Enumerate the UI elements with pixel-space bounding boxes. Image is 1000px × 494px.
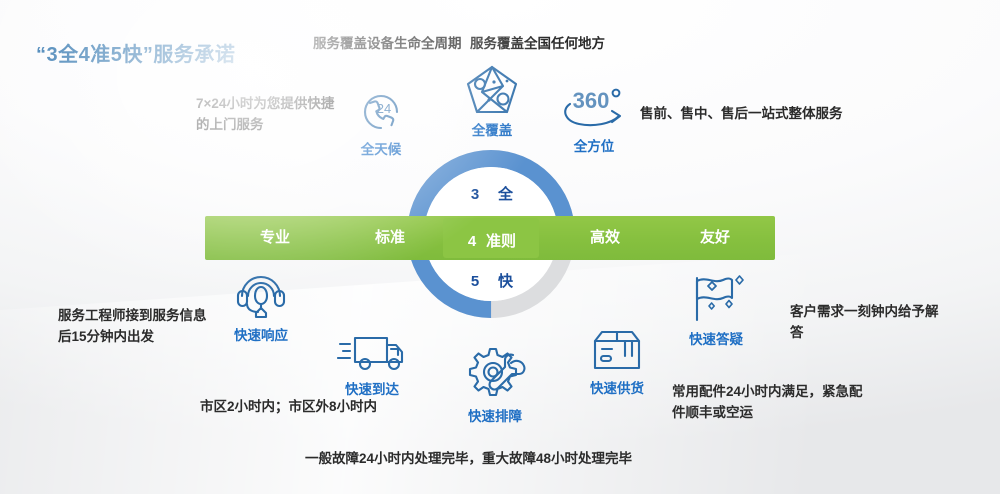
icon-label-fast-repair: 快速排障 <box>452 405 538 425</box>
caption-coverage-nationwide: 服务覆盖全国任何地方 <box>470 33 605 54</box>
caption-coverage-lifecycle: 服务覆盖设备生命全周期 <box>313 33 462 54</box>
icon-label-all-weather: 全天候 <box>337 138 425 158</box>
green-item-efficient[interactable]: 高效 <box>545 216 665 260</box>
caption-arrival: 市区2小时内；市区外8小时内 <box>200 396 377 417</box>
ring-word-3: 全 <box>498 186 513 203</box>
caption-dispatch: 服务工程师接到服务信息 后15分钟内出发 <box>58 305 207 347</box>
service-commitment-infographic: “3全4准5快”服务承诺 服务覆盖设备生命全周期 服务覆盖全国任何地方 7×24… <box>0 0 1000 494</box>
24h-phone-icon: 24 <box>337 86 425 136</box>
ring-word-4: 准则 <box>486 233 516 250</box>
icon-label-fast-supply: 快速供货 <box>574 377 660 397</box>
icon-glyph-360: 360 <box>573 88 610 113</box>
caption-onsite-service: 7×24小时为您提供快捷 的上门服务 <box>196 93 334 135</box>
icon-group-coverage[interactable]: 全覆盖 <box>447 62 537 139</box>
icon-group-response[interactable]: 快速响应 <box>218 268 304 344</box>
360-degree-icon: 360 <box>549 84 639 134</box>
ring-num-3: 3 <box>469 186 481 203</box>
gear-wrench-icon <box>452 345 538 403</box>
delivery-truck-icon <box>329 331 415 375</box>
open-box-icon <box>574 330 660 374</box>
icon-group-360[interactable]: 360 全方位 <box>549 84 639 155</box>
icon-label-all-round: 全方位 <box>549 135 639 155</box>
pentagon-coverage-icon <box>447 62 537 118</box>
caption-answer: 客户需求一刻钟内给予解 答 <box>790 301 939 343</box>
icon-label-fast-arrival: 快速到达 <box>329 378 415 398</box>
headset-support-icon <box>218 268 304 322</box>
green-item-friendly[interactable]: 友好 <box>655 216 775 260</box>
icon-group-answer[interactable]: 快速答疑 <box>673 272 759 348</box>
icon-label-fast-response: 快速响应 <box>218 324 304 344</box>
ring-row-3: 3全 <box>407 183 575 204</box>
icon-group-supply[interactable]: 快速供货 <box>574 330 660 397</box>
icon-glyph-24: 24 <box>377 101 391 116</box>
green-item-professional[interactable]: 专业 <box>215 216 335 260</box>
green-item-standard[interactable]: 标准 <box>330 216 450 260</box>
ring-row-4: 4准则 <box>443 230 539 251</box>
icon-label-fast-answer: 快速答疑 <box>673 328 759 348</box>
caption-parts: 常用配件24小时内满足，紧急配 件顺丰或空运 <box>672 381 863 423</box>
icon-group-repair[interactable]: 快速排障 <box>452 345 538 425</box>
icon-group-arrival[interactable]: 快速到达 <box>329 331 415 398</box>
ring-num-5: 5 <box>469 273 481 290</box>
icon-group-24h[interactable]: 24 全天候 <box>337 86 425 158</box>
icon-label-full-coverage: 全覆盖 <box>447 119 537 139</box>
ring-row-5: 5快 <box>407 270 575 291</box>
page-title: “3全4准5快”服务承诺 <box>36 38 235 67</box>
flag-sparkle-icon <box>673 272 759 326</box>
ring-num-4: 4 <box>466 233 478 250</box>
caption-repair: 一般故障24小时内处理完毕，重大故障48小时处理完毕 <box>305 448 632 469</box>
ring-word-5: 快 <box>498 273 513 290</box>
caption-one-stop-service: 售前、售中、售后一站式整体服务 <box>640 103 843 124</box>
